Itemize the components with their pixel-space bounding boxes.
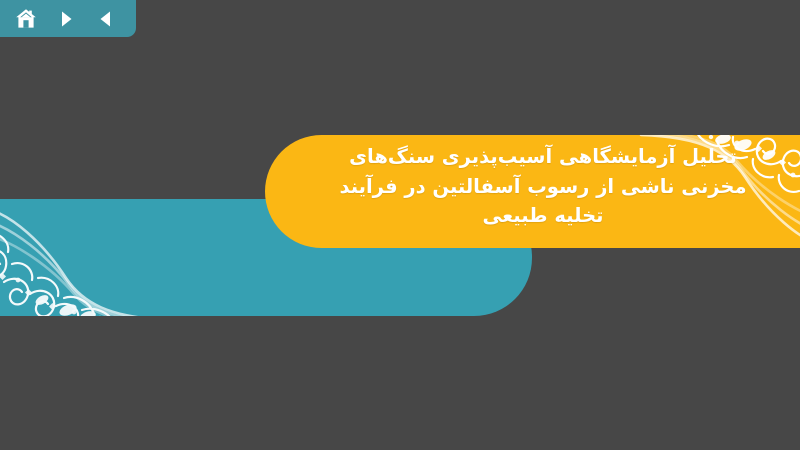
slide-title-line-2: مخزنی ناشی از رسوب آسفالتین در فرآیند	[308, 172, 778, 202]
arabesque-ornament-teal	[0, 199, 172, 316]
slide-title: تحلیل آزمایشگاهی آسیب‌پذیری سنگ‌های مخزن…	[308, 142, 778, 231]
slide-title-line-3: تخلیه طبیعی	[308, 201, 778, 231]
next-button[interactable]	[53, 6, 79, 32]
slide-title-line-1: تحلیل آزمایشگاهی آسیب‌پذیری سنگ‌های	[308, 142, 778, 172]
home-icon	[15, 8, 37, 30]
home-button[interactable]	[13, 6, 39, 32]
slide-navigation-bar	[0, 0, 136, 37]
next-icon	[56, 9, 76, 29]
previous-button[interactable]	[93, 6, 119, 32]
slide-canvas: تحلیل آزمایشگاهی آسیب‌پذیری سنگ‌های مخزن…	[0, 0, 800, 450]
previous-icon	[96, 9, 116, 29]
